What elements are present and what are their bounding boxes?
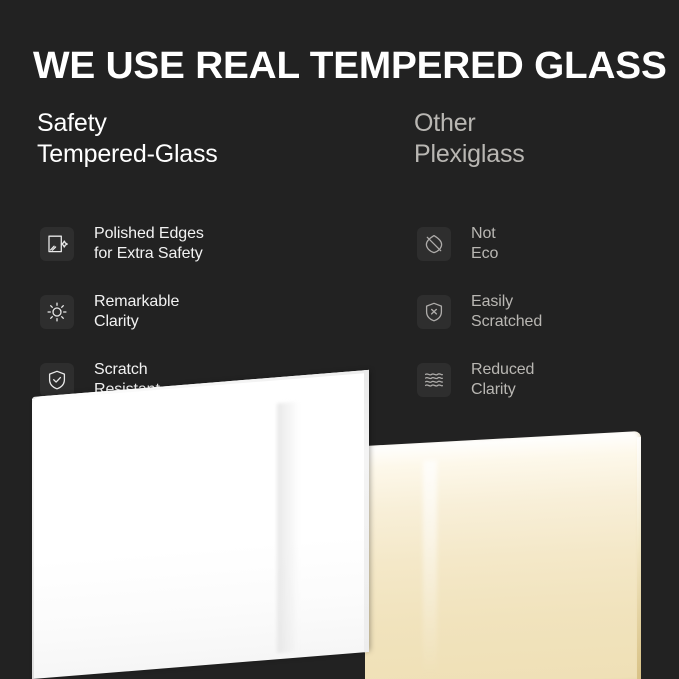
plexiglass-panel: [365, 431, 641, 679]
column-heading-line-1: Safety: [37, 108, 337, 139]
leaf-crossed-out-icon: [417, 227, 451, 261]
feature-label-line-1: Not: [471, 224, 498, 244]
feature-label: Easily Scratched: [471, 292, 542, 332]
page-title: WE USE REAL TEMPERED GLASS: [33, 43, 665, 89]
feature-label-line-1: Reduced: [471, 360, 534, 380]
wavy-lines-icon: [417, 363, 451, 397]
column-heading-line-2: Tempered-Glass: [37, 139, 337, 170]
feature-label: Remarkable Clarity: [94, 292, 179, 332]
tempered-glass-panel-left-edge: [32, 399, 34, 679]
shield-check-icon: [40, 363, 74, 397]
feature-label-line-2: Clarity: [94, 312, 179, 332]
feature-row: Not Eco: [417, 210, 542, 278]
column-heading-line-2: Plexiglass: [414, 139, 679, 170]
feature-label: Polished Edges for Extra Safety: [94, 224, 204, 264]
feature-row: Easily Scratched: [417, 278, 542, 346]
tempered-glass-panel: [32, 370, 369, 679]
feature-label-line-1: Scratch: [94, 360, 160, 380]
column-heading-tempered-glass: Safety Tempered-Glass: [37, 108, 337, 170]
plexiglass-panel-highlight: [423, 460, 437, 676]
product-panels-image: [0, 395, 679, 679]
sun-clarity-icon: [40, 295, 74, 329]
column-heading-line-1: Other: [414, 108, 679, 139]
column-heading-plexiglass: Other Plexiglass: [414, 108, 679, 170]
feature-list-tempered-glass: Polished Edges for Extra Safety Remarkab…: [40, 210, 204, 414]
feature-label-line-1: Remarkable: [94, 292, 179, 312]
comparison-column-plexiglass: Other Plexiglass Not Eco: [414, 108, 679, 170]
feature-row: Polished Edges for Extra Safety: [40, 210, 204, 278]
plexiglass-panel-edge: [637, 437, 641, 679]
feature-label-line-2: Eco: [471, 244, 498, 264]
feature-list-plexiglass: Not Eco Easily Scratched: [417, 210, 542, 414]
feature-label-line-1: Easily: [471, 292, 542, 312]
feature-row: Remarkable Clarity: [40, 278, 204, 346]
tempered-glass-panel-right-edge: [364, 370, 369, 652]
feature-label-line-2: Scratched: [471, 312, 542, 332]
tempered-glass-panel-highlight: [277, 402, 299, 654]
polished-edge-icon: [40, 227, 74, 261]
feature-label-line-1: Polished Edges: [94, 224, 204, 244]
shield-x-icon: [417, 295, 451, 329]
comparison-column-tempered-glass: Safety Tempered-Glass Polished Edges for…: [37, 108, 337, 170]
feature-label-line-2: for Extra Safety: [94, 244, 204, 264]
tempered-glass-comparison-infographic: WE USE REAL TEMPERED GLASS Safety Temper…: [0, 0, 679, 679]
feature-label: Reduced Clarity: [471, 360, 534, 400]
feature-label: Not Eco: [471, 224, 498, 264]
